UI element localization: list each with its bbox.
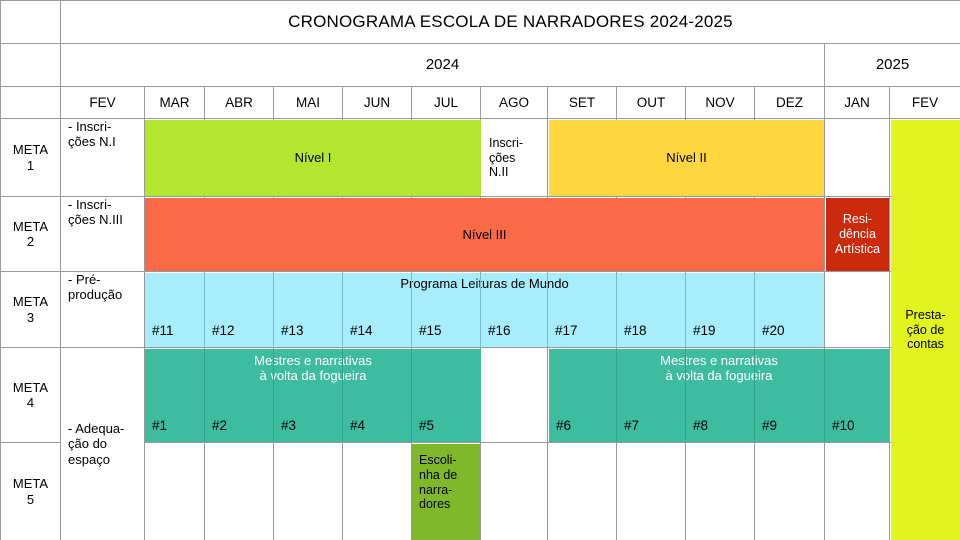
month-header-set: SET [548, 87, 617, 119]
meta-desc-3-line1: - Pré- [68, 272, 101, 287]
mestres-a-line2: à volta da fogueira [260, 368, 367, 383]
month-header-jan: JAN [825, 87, 890, 119]
meta-desc-4-line1: - Adequa- [68, 421, 124, 436]
grid-cell-meta5-nov [686, 443, 755, 540]
grid-cell-meta4-ago [481, 348, 548, 443]
prestacao-line1: Presta- [905, 308, 945, 323]
meta-label-5: META 5 [0, 443, 61, 540]
bar-nivel-1: Nível I [145, 120, 481, 196]
meta-desc-2: - Inscri- ções N.III [61, 197, 145, 272]
escolinha-line3: narra- [419, 483, 452, 498]
session-number-6: #6 [549, 395, 616, 442]
bar-escolinha-de-narradores: Escoli- nha de narra- dores [412, 444, 480, 540]
bar-inscricoes-nivel-2: Inscri- ções N.II [482, 120, 547, 196]
meta-desc-4-line3: espaço [68, 452, 110, 467]
grid-cell-meta3-jan [825, 272, 890, 348]
session-number-15: #15 [412, 300, 480, 347]
meta-label-5-line1: META [13, 476, 48, 491]
residencia-line3: Artística [835, 242, 880, 257]
meta-desc-4-line2: ção do [68, 436, 107, 451]
session-number-18: #18 [617, 300, 685, 347]
month-header-fev-2024: FEV [61, 87, 145, 119]
month-header-abr: ABR [205, 87, 274, 119]
month-header-nov: NOV [686, 87, 755, 119]
grid-cell-meta5-dez [755, 443, 825, 540]
meta-desc-1-line1: - Inscri- [68, 119, 111, 134]
meta-label-1: META 1 [0, 119, 61, 197]
session-number-11: #11 [145, 300, 204, 347]
bar-programa-leituras-label: Programa Leituras de Mundo [145, 276, 824, 296]
inscricoes-n2-line2: ções [489, 151, 515, 166]
month-header-dez: DEZ [755, 87, 825, 119]
session-number-17: #17 [548, 300, 616, 347]
meta-desc-4-5: - Adequa- ção do espaço [61, 348, 145, 540]
grid-cell-meta5-jan [825, 443, 890, 540]
meta-desc-3: - Pré- produção [61, 272, 145, 348]
session-number-9: #9 [755, 395, 824, 442]
mestres-a-line1: Mestres e narrativas [254, 353, 372, 368]
session-number-2: #2 [205, 395, 273, 442]
session-number-3: #3 [274, 395, 342, 442]
meta-label-5-line2: 5 [27, 492, 34, 507]
meta-desc-3-line2: produção [68, 287, 122, 302]
meta-desc-2-line2: ções N.III [68, 212, 123, 227]
meta-desc-2-line1: - Inscri- [68, 197, 111, 212]
header-corner-blank [0, 0, 61, 44]
bar-prestacao-de-contas: Presta- ção de contas [891, 120, 960, 540]
grid-cell-meta5-jun [343, 443, 412, 540]
year-header-2025: 2025 [825, 44, 960, 87]
session-number-16: #16 [481, 300, 547, 347]
month-header-mar: MAR [145, 87, 205, 119]
grid-cell-meta5-ago [481, 443, 548, 540]
session-number-5: #5 [412, 395, 480, 442]
session-number-4: #4 [343, 395, 411, 442]
meta-desc-1: - Inscri- ções N.I [61, 119, 145, 197]
residencia-line1: Resi- [843, 212, 872, 227]
meta-label-1-line2: 1 [27, 158, 34, 173]
grid-cell-meta5-abr [205, 443, 274, 540]
session-number-12: #12 [205, 300, 273, 347]
bar-mestres-narrativas-a-label: Mestres e narrativas à volta da fogueira [145, 353, 481, 393]
month-row-blank [0, 87, 61, 119]
bar-mestres-narrativas-b-label: Mestres e narrativas à volta da fogueira [549, 353, 889, 393]
meta-label-3: META 3 [0, 272, 61, 348]
meta-label-3-line1: META [13, 294, 48, 309]
month-header-fev-2025: FEV [890, 87, 960, 119]
escolinha-line4: dores [419, 497, 450, 512]
year-row-blank [0, 44, 61, 87]
bar-nivel-2: Nível II [549, 120, 824, 196]
month-header-out: OUT [617, 87, 686, 119]
meta-label-2: META 2 [0, 197, 61, 272]
session-number-14: #14 [343, 300, 411, 347]
escolinha-line1: Escoli- [419, 453, 457, 468]
prestacao-line3: contas [907, 337, 944, 352]
meta-label-2-line1: META [13, 219, 48, 234]
meta-label-3-line2: 3 [27, 310, 34, 325]
page-title: CRONOGRAMA ESCOLA DE NARRADORES 2024-202… [61, 0, 960, 44]
cronograma-table: CRONOGRAMA ESCOLA DE NARRADORES 2024-202… [0, 0, 960, 540]
year-header-2024: 2024 [61, 44, 825, 87]
prestacao-line2: ção de [907, 323, 945, 338]
mestres-b-line2: à volta da fogueira [666, 368, 773, 383]
session-number-10: #10 [825, 395, 889, 442]
bar-nivel-3: Nível III [145, 198, 824, 271]
month-header-jun: JUN [343, 87, 412, 119]
grid-cell-meta1-jan [825, 119, 890, 197]
session-number-1: #1 [145, 395, 204, 442]
month-header-ago: AGO [481, 87, 548, 119]
meta-desc-1-line2: ções N.I [68, 134, 116, 149]
inscricoes-n2-line3: N.II [489, 165, 508, 180]
session-number-7: #7 [617, 395, 685, 442]
session-number-20: #20 [755, 300, 824, 347]
session-number-8: #8 [686, 395, 754, 442]
residencia-line2: dência [839, 227, 876, 242]
grid-cell-meta5-mai [274, 443, 343, 540]
grid-cell-meta5-mar [145, 443, 205, 540]
month-header-jul: JUL [412, 87, 481, 119]
month-header-mai: MAI [274, 87, 343, 119]
grid-cell-meta5-set [548, 443, 617, 540]
meta-label-4-line2: 4 [27, 395, 34, 410]
session-number-19: #19 [686, 300, 754, 347]
bar-residencia-artistica: Resi- dência Artística [826, 198, 889, 271]
inscricoes-n2-line1: Inscri- [489, 136, 523, 151]
meta-label-1-line1: META [13, 142, 48, 157]
meta-label-4-line1: META [13, 380, 48, 395]
escolinha-line2: nha de [419, 468, 457, 483]
meta-label-2-line2: 2 [27, 234, 34, 249]
mestres-b-line1: Mestres e narrativas [660, 353, 778, 368]
grid-cell-meta5-out [617, 443, 686, 540]
session-number-13: #13 [274, 300, 342, 347]
meta-label-4: META 4 [0, 348, 61, 443]
